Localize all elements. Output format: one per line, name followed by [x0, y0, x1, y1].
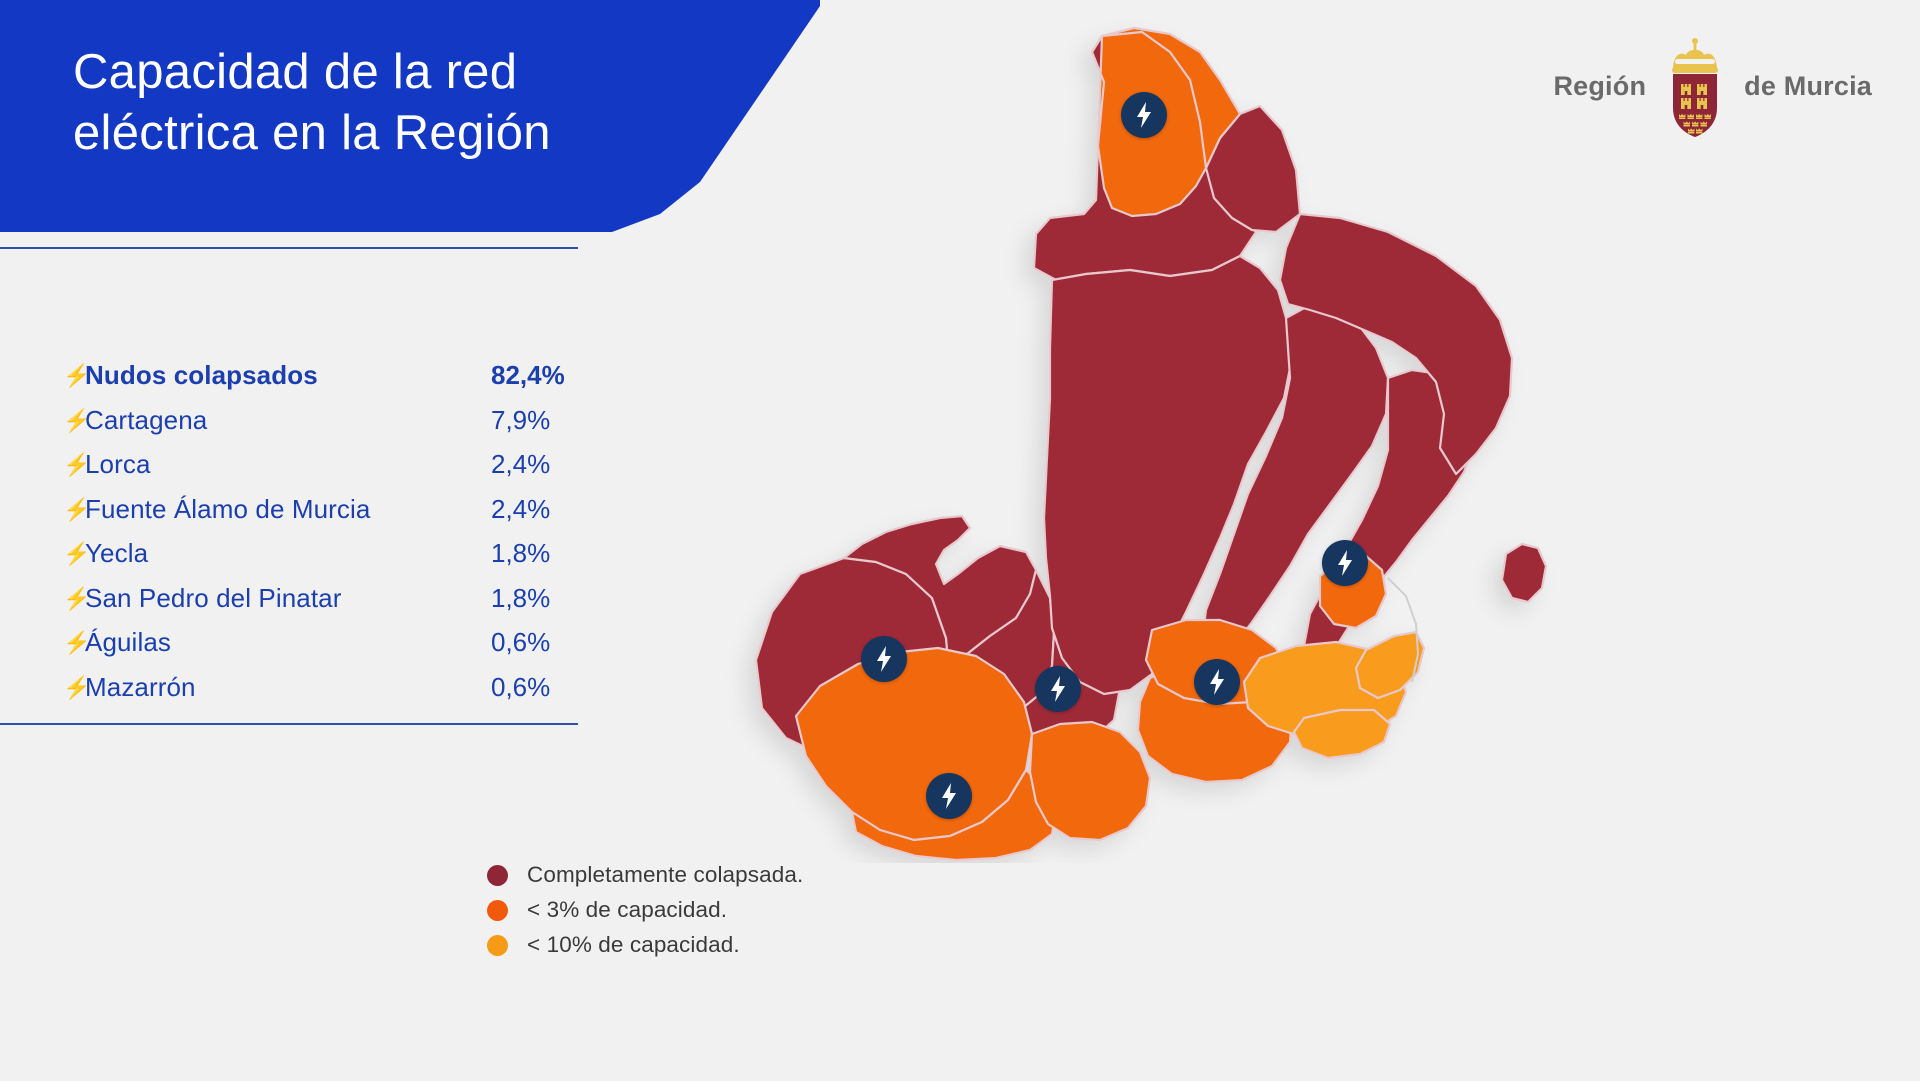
legend-item-collapsed: Completamente colapsada. [487, 858, 803, 893]
list-item-label: Mazarrón [85, 674, 491, 700]
list-item-label: San Pedro del Pinatar [85, 585, 491, 611]
marker-yecla[interactable] [1121, 92, 1167, 138]
list-item: ⚡ Nudos colapsados 82,4% [63, 362, 583, 407]
bolt-icon [1048, 676, 1068, 702]
list-item-value: 2,4% [491, 451, 583, 477]
map-region-coast-patch [1502, 544, 1546, 602]
legend-label: Completamente colapsada. [527, 864, 803, 887]
list-item-label: Nudos colapsados [85, 362, 491, 388]
infographic-page: Capacidad de la red eléctrica en la Regi… [0, 0, 1920, 1081]
list-item: ⚡ Lorca 2,4% [63, 451, 583, 496]
bolt-icon: ⚡ [63, 588, 85, 610]
bolt-icon: ⚡ [63, 543, 85, 565]
marker-san-pedro-del-pinatar[interactable] [1322, 540, 1368, 586]
page-title: Capacidad de la red eléctrica en la Regi… [73, 42, 713, 164]
legend-swatch-under-10 [487, 935, 508, 956]
list-item-value: 82,4% [491, 362, 583, 388]
map-region-light-orange-manga [1356, 632, 1424, 698]
list-item: ⚡ San Pedro del Pinatar 1,8% [63, 585, 583, 630]
bolt-icon: ⚡ [63, 677, 85, 699]
list-item: ⚡ Águilas 0,6% [63, 629, 583, 674]
murcia-region-map [700, 18, 1890, 863]
map-region-mazarron [1030, 722, 1150, 840]
list-item-value: 1,8% [491, 540, 583, 566]
list-item: ⚡ Yecla 1,8% [63, 540, 583, 585]
list-item: ⚡ Fuente Álamo de Murcia 2,4% [63, 496, 583, 541]
list-item-label: Cartagena [85, 407, 491, 433]
list-item-label: Fuente Álamo de Murcia [85, 496, 491, 522]
map-legend: Completamente colapsada. < 3% de capacid… [487, 858, 803, 963]
legend-label: < 3% de capacidad. [527, 899, 727, 922]
legend-label: < 10% de capacidad. [527, 934, 740, 957]
legend-swatch-collapsed [487, 865, 508, 886]
marker-lorca[interactable] [861, 636, 907, 682]
legend-item-under-3: < 3% de capacidad. [487, 893, 803, 928]
list-item-label: Yecla [85, 540, 491, 566]
map-region-light-orange-cape [1294, 710, 1390, 758]
list-item: ⚡ Cartagena 7,9% [63, 407, 583, 452]
bolt-icon [1207, 669, 1227, 695]
list-item: ⚡ Mazarrón 0,6% [63, 674, 583, 719]
legend-item-under-10: < 10% de capacidad. [487, 928, 803, 963]
bolt-icon [1134, 102, 1154, 128]
list-item-value: 7,9% [491, 407, 583, 433]
bolt-icon: ⚡ [63, 365, 85, 387]
bolt-icon [1335, 550, 1355, 576]
list-item-value: 0,6% [491, 629, 583, 655]
list-item-label: Águilas [85, 629, 491, 655]
bolt-icon: ⚡ [63, 454, 85, 476]
marker-cartagena[interactable] [1194, 659, 1240, 705]
bolt-icon: ⚡ [63, 410, 85, 432]
legend-swatch-under-3 [487, 900, 508, 921]
bolt-icon [939, 783, 959, 809]
marker-aguilas[interactable] [926, 773, 972, 819]
list-item-label: Lorca [85, 451, 491, 477]
list-item-value: 0,6% [491, 674, 583, 700]
bolt-icon: ⚡ [63, 499, 85, 521]
bolt-icon [874, 646, 894, 672]
divider-top [0, 247, 578, 249]
list-item-value: 2,4% [491, 496, 583, 522]
collapsed-nodes-list: ⚡ Nudos colapsados 82,4% ⚡ Cartagena 7,9… [63, 362, 583, 718]
map-svg [700, 18, 1890, 863]
bolt-icon: ⚡ [63, 632, 85, 654]
list-item-value: 1,8% [491, 585, 583, 611]
divider-bottom [0, 723, 578, 725]
marker-fuente-alamo[interactable] [1035, 666, 1081, 712]
